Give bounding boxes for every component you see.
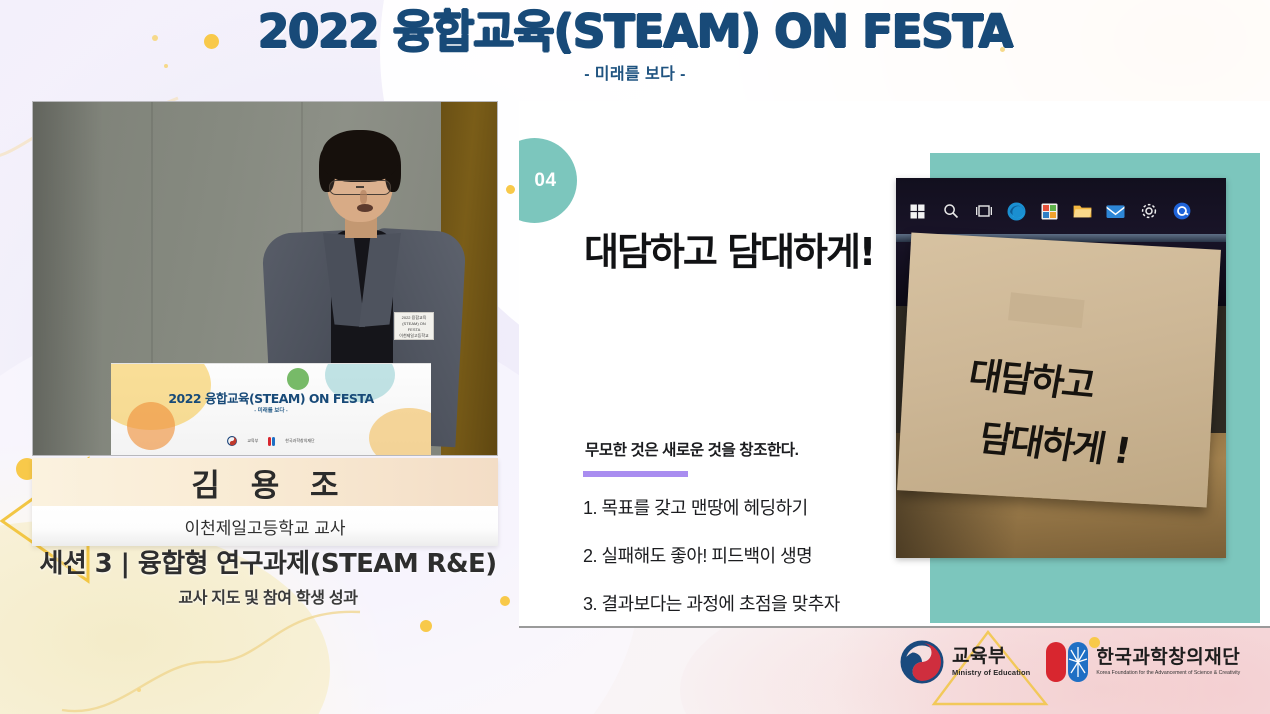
mail-icon: [1106, 202, 1125, 221]
podium-title: 2022 융합교육(STEAM) ON FESTA: [111, 388, 431, 407]
logo-ministry-of-education: 교육부 Ministry of Education: [900, 640, 1030, 684]
name-tag-line2: 이천제일고등학교: [397, 333, 431, 339]
speaker-nameplate: 김 용 조 이천제일고등학교 교사: [32, 458, 498, 546]
taegeuk-icon: [900, 640, 944, 684]
podium-logo-moe: 교육부: [247, 438, 258, 443]
page-subtitle: - 미래를 보다 -: [0, 60, 1270, 84]
decor-dot: [420, 620, 432, 632]
session-caption: 세션 3 | 융합형 연구과제(STEAM R&E) 교사 지도 및 참여 학생…: [18, 548, 518, 608]
speaker-mouth: [357, 204, 373, 212]
search-icon: [941, 202, 960, 221]
logo-name-ko: 교육부: [952, 647, 1030, 667]
windows-taskbar: [908, 194, 1226, 228]
presentation-slide[interactable]: 04 대담하고 담대하게! 무모한 것은 새로운 것을 창조한다. 1. 목표를…: [519, 101, 1270, 628]
speaker-name-tag: 2022 융합교육(STEAM) ON FESTA 이천제일고등학교 김용조: [394, 312, 434, 340]
logo-text-block-moe: 교육부 Ministry of Education: [952, 647, 1030, 678]
cortana-icon: [1172, 202, 1191, 221]
handwriting-line-1: 대담하고: [965, 346, 1098, 409]
slide-heading: 대담하고 담대하게!: [584, 221, 874, 276]
slide-number-badge: 04: [519, 138, 577, 223]
handwriting-line-2: 담대하게 !: [976, 409, 1134, 474]
podium-banner: 2022 융합교육(STEAM) ON FESTA - 미래를 보다 - 교육부…: [111, 363, 431, 455]
photo-tape: [1008, 292, 1085, 328]
edge-browser-icon: [1007, 202, 1026, 221]
speaker-name: 김 용 조: [181, 460, 348, 505]
logo-name-ko: 한국과학창의재단: [1096, 648, 1240, 668]
kofac-rays-icon: [1068, 642, 1088, 682]
kofac-blue-pill: [1068, 642, 1088, 682]
task-view-icon: [974, 202, 993, 221]
kofac-red-pill: [1046, 642, 1066, 682]
footer-logo-bar: 교육부 Ministry of Education: [900, 640, 1240, 684]
photo-paper-note: 대담하고 담대하게 !: [897, 233, 1221, 508]
session-subtitle: 교사 지도 및 참여 학생 성과: [18, 584, 518, 608]
kofac-icon: [1046, 642, 1088, 682]
podium-blob: [369, 408, 431, 455]
decor-dot: [137, 688, 141, 692]
windows-start-icon: [908, 202, 927, 221]
list-item: 1. 목표를 갖고 맨땅에 헤딩하기: [583, 494, 840, 520]
slide-photo: 대담하고 담대하게 !: [896, 178, 1226, 558]
office-icon: [1040, 202, 1059, 221]
slide-number: 04: [519, 170, 557, 192]
session-title: 세션 3 | 융합형 연구과제(STEAM R&E): [18, 548, 518, 581]
slide-lead-underline: [583, 471, 688, 477]
nameplate-name-band: 김 용 조: [32, 458, 498, 506]
name-tag-line1: 2022 융합교육(STEAM) ON FESTA: [397, 315, 431, 333]
podium-blob: [287, 368, 309, 390]
logo-name-en: Korea Foundation for the Advancement of …: [1096, 670, 1240, 676]
speaker-video-feed[interactable]: 2022 융합교육(STEAM) ON FESTA 이천제일고등학교 김용조 2…: [32, 101, 498, 456]
page-title-block: 2022 융합교육(STEAM) ON FESTA - 미래를 보다 -: [0, 8, 1270, 84]
podium-subtitle: - 미래를 보다 -: [111, 406, 431, 414]
kofac-icon: [268, 437, 275, 446]
podium-logo-row: 교육부 한국과학창의재단: [111, 436, 431, 446]
logo-text-block-kofac: 한국과학창의재단 Korea Foundation for the Advanc…: [1096, 648, 1240, 676]
speaker-hair: [322, 130, 398, 182]
video-vignette: [33, 102, 103, 455]
wavy-line-icon: [60, 600, 390, 714]
page-title: 2022 융합교육(STEAM) ON FESTA: [0, 8, 1270, 55]
list-item: 3. 결과보다는 과정에 초점을 맞추자: [583, 590, 840, 616]
taegeuk-icon: [227, 436, 237, 446]
slide-bullet-list: 1. 목표를 갖고 맨땅에 헤딩하기 2. 실패해도 좋아! 피드백이 생명 3…: [583, 494, 840, 628]
nameplate-role-band: 이천제일고등학교 교사: [32, 506, 498, 546]
settings-gear-icon: [1139, 202, 1158, 221]
logo-name-en: Ministry of Education: [952, 668, 1030, 677]
presentation-stage: 2022 융합교육(STEAM) ON FESTA - 미래를 보다 - 202…: [0, 0, 1270, 714]
podium-logo-kofac: 한국과학창의재단: [285, 438, 314, 443]
file-explorer-icon: [1073, 202, 1092, 221]
decor-dot: [506, 185, 515, 194]
speaker-role: 이천제일고등학교 교사: [184, 514, 345, 539]
list-item: 2. 실패해도 좋아! 피드백이 생명: [583, 542, 840, 568]
logo-kofac: 한국과학창의재단 Korea Foundation for the Advanc…: [1046, 642, 1240, 682]
speaker-nose: [360, 190, 367, 204]
slide-lead-text: 무모한 것은 새로운 것을 창조한다.: [585, 438, 799, 460]
